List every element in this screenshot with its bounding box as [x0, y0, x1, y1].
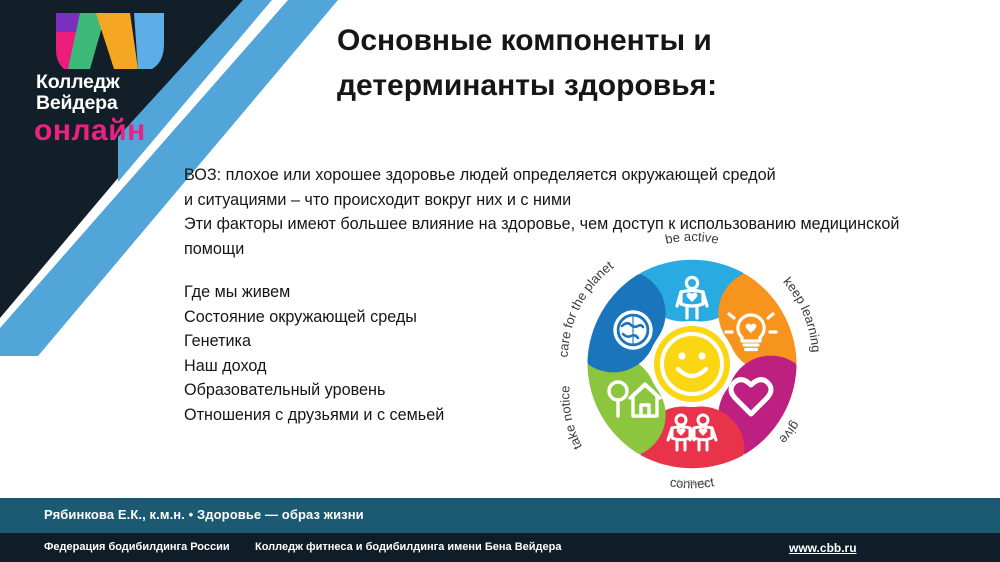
logo-text-online: онлайн	[34, 115, 203, 147]
determinants-list: Где мы живем Состояние окружающей среды …	[184, 280, 584, 428]
wellbeing-wheel: be active keep learning give connect tak…	[546, 232, 838, 490]
footer-secondary: Федерация бодибилдинга России Колледж фи…	[0, 533, 1000, 562]
body-line: помощи	[184, 237, 984, 262]
footer-author-topic: Рябинкова Е.К., к.м.н. • Здоровье — обра…	[44, 507, 364, 522]
logo-shape-orange	[96, 13, 138, 69]
body-line: Эти факторы имеют большее влияние на здо…	[184, 212, 984, 237]
page-title: Основные компоненты и детерминанты здоро…	[337, 18, 967, 108]
list-item: Где мы живем	[184, 280, 584, 305]
wheel-label-give: give	[776, 419, 803, 447]
list-item: Состояние окружающей среды	[184, 305, 584, 330]
footer-college: Колледж фитнеса и бодибилдинга имени Бен…	[255, 541, 561, 553]
body-line: ВОЗ: плохое или хорошее здоровье людей о…	[184, 163, 984, 188]
list-item: Отношения с друзьями и с семьей	[184, 403, 584, 428]
wellbeing-wheel-graphic: be active keep learning give connect tak…	[546, 232, 838, 490]
body-paragraph: ВОЗ: плохое или хорошее здоровье людей о…	[184, 163, 984, 261]
list-item: Наш доход	[184, 354, 584, 379]
logo-text-line2: Вейдера	[36, 93, 203, 114]
footer-federation: Федерация бодибилдинга России	[44, 541, 230, 553]
smiley-face-icon	[651, 323, 733, 405]
list-item: Генетика	[184, 329, 584, 354]
footer-website-link[interactable]: www.cbb.ru	[789, 541, 857, 555]
slide-canvas: Колледж Вейдера онлайн Основные компонен…	[0, 0, 1000, 562]
wheel-credit: (c) SLaM	[677, 478, 707, 487]
logo-w-mark	[34, 10, 184, 72]
page-title-line1: Основные компоненты и	[337, 18, 967, 63]
logo-text-line1: Колледж	[36, 72, 203, 93]
logo: Колледж Вейдера онлайн	[28, 10, 203, 147]
body-line: и ситуациями – что происходит вокруг них…	[184, 188, 984, 213]
footer-primary: Рябинкова Е.К., к.м.н. • Здоровье — обра…	[0, 498, 1000, 533]
globe-icon	[615, 312, 651, 348]
page-title-line2: детерминанты здоровья:	[337, 63, 967, 108]
list-item: Образовательный уровень	[184, 378, 584, 403]
logo-shape-blue	[134, 13, 164, 69]
